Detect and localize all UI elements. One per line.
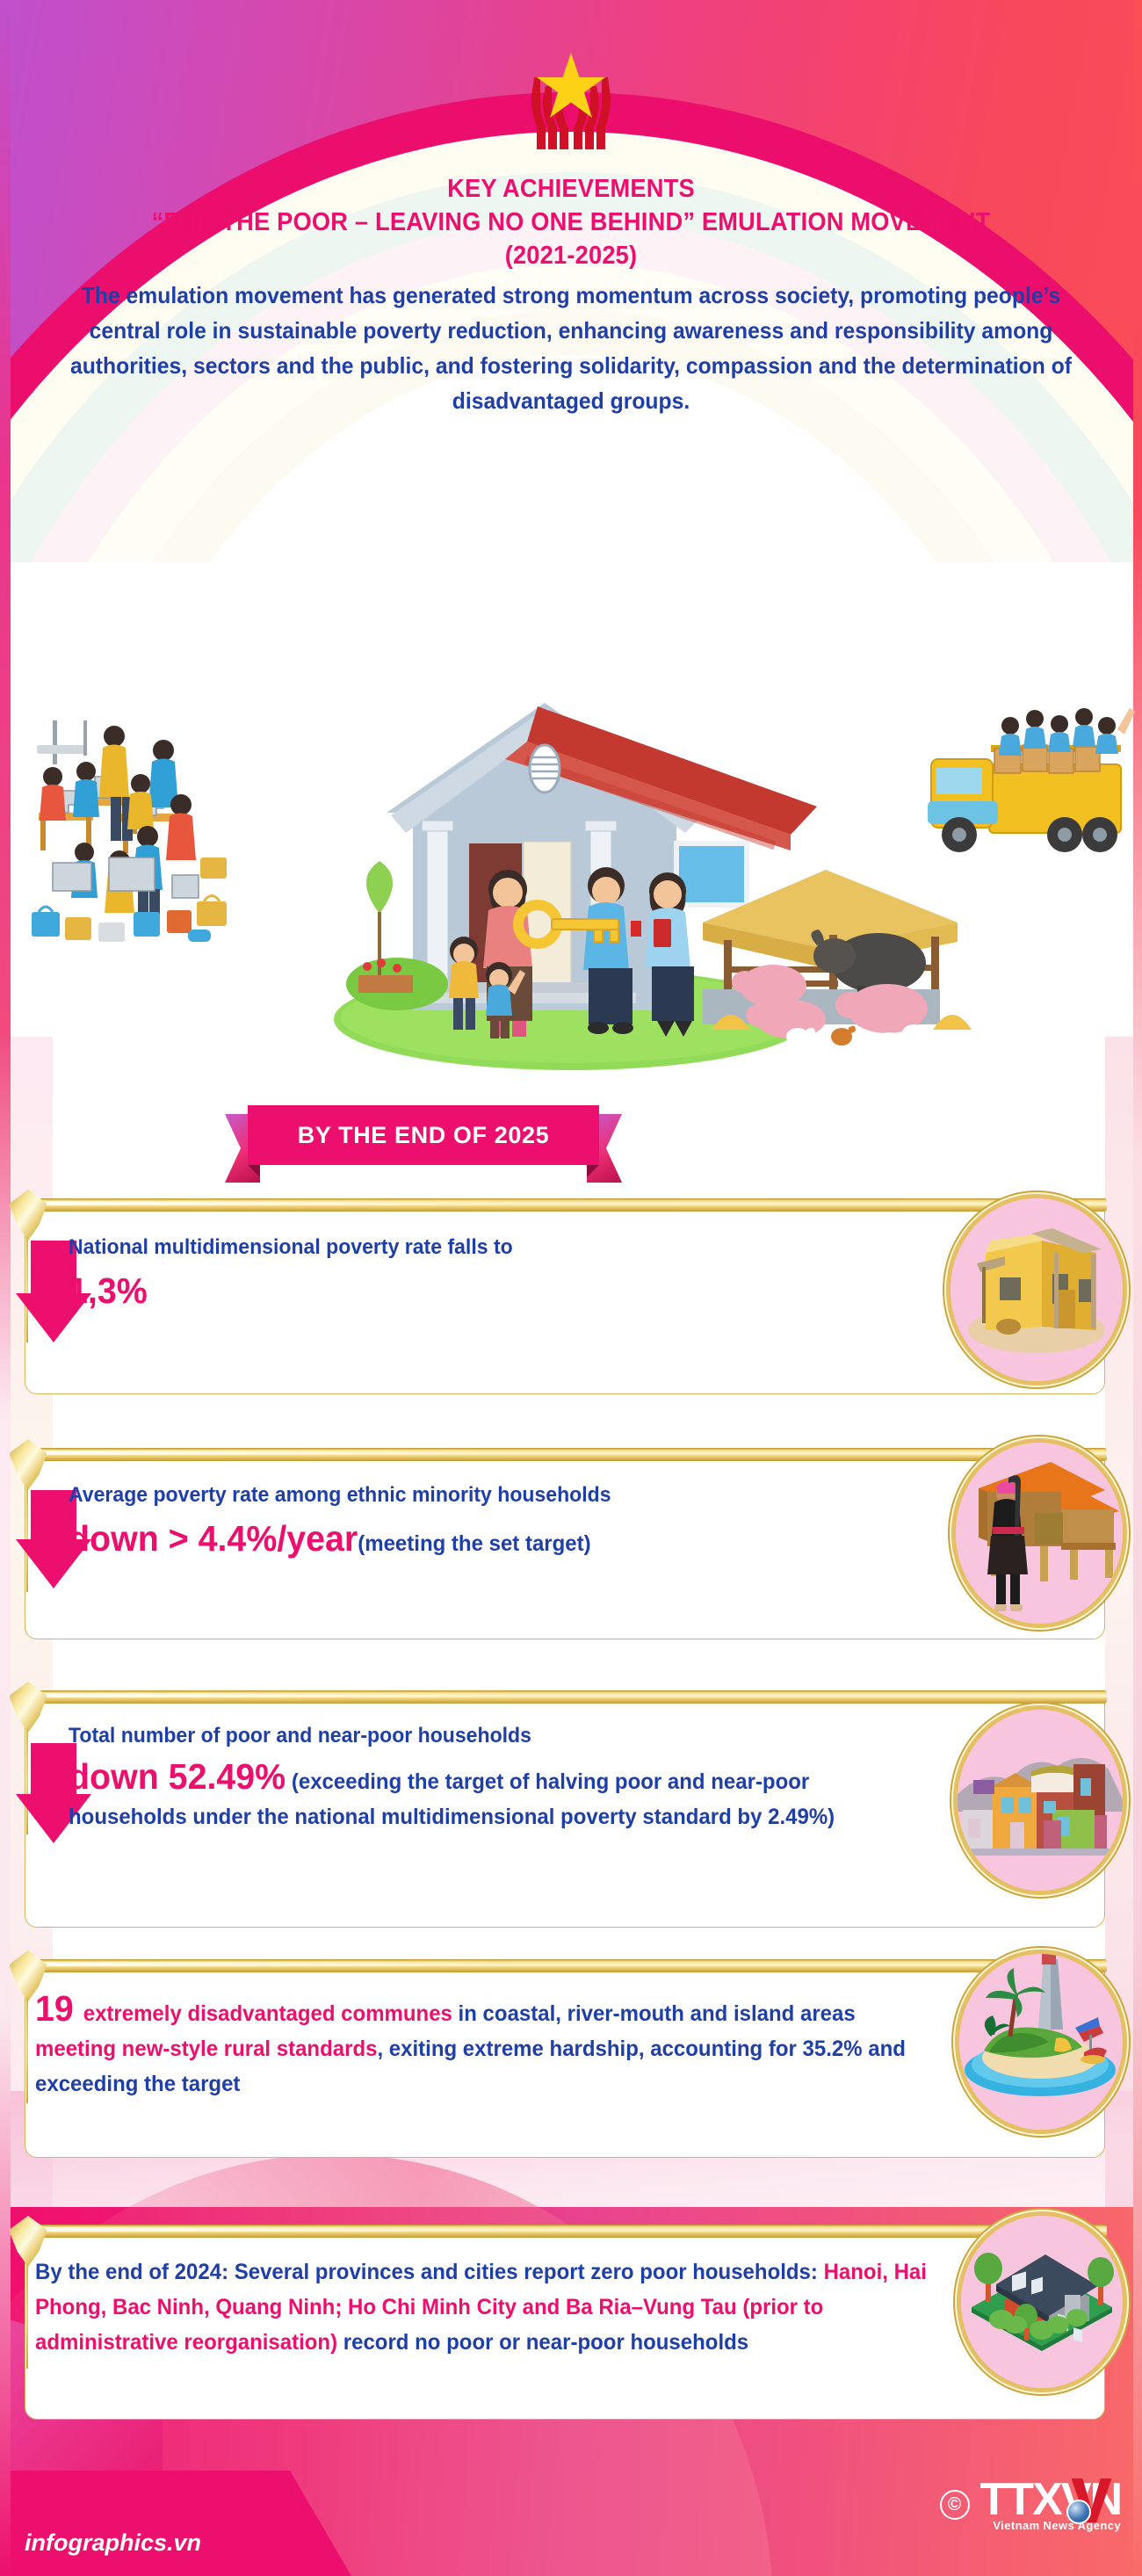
yellow-relief-truck-with-volunteers	[928, 708, 1135, 852]
stat-card-poor-and-near-poor-households[interactable]: Total number of poor and near-poor house…	[0, 1680, 1142, 1928]
card-stat-suffix: (meeting the set target)	[358, 1531, 590, 1556]
card-gold-stem	[26, 1998, 28, 2103]
vietnam-star-emulation-logo-icon	[505, 46, 637, 160]
card-top-gold-bar	[32, 1690, 1107, 1704]
agency-logo: © TTXVN Vietnam News Agency	[940, 2477, 1121, 2532]
card-paragraph: down 52.49% (exceeding the target of hal…	[69, 1759, 930, 1834]
yellow-mud-house-photo	[950, 1198, 1123, 1381]
tropical-island-beach-photo	[959, 1954, 1123, 2130]
stat-card-ethnic-minority-poverty-rate[interactable]: Average poverty rate among ethnic minori…	[0, 1437, 1142, 1639]
background-bottom-shape-1	[0, 2471, 351, 2576]
card-top-gold-bar	[32, 1198, 1107, 1212]
card-title: Total number of poor and near-poor house…	[69, 1722, 930, 1750]
new-house-key-handover-family-scene	[346, 703, 972, 1048]
ethnic-minority-woman-stilt-house-photo	[956, 1443, 1123, 1624]
card-body-1: By the end of 2024: Several provinces an…	[35, 2260, 824, 2284]
hero-illustration	[0, 703, 1142, 1072]
card-stat-value: down > 4.4%/year(meeting the set target)	[69, 1516, 922, 1566]
card-gold-stem	[26, 2263, 28, 2369]
copyright-icon: ©	[940, 2490, 970, 2520]
globe-icon	[1066, 2500, 1091, 2524]
card-body-1: in coastal, river-mouth and island areas	[459, 2001, 856, 2026]
red-house-with-garden-photo	[961, 2216, 1123, 2388]
page-title-line-1: KEY ACHIEVEMENTS	[34, 172, 1108, 206]
card-title: National multidimensional poverty rate f…	[69, 1234, 922, 1262]
card-title: Average poverty rate among ethnic minori…	[69, 1481, 922, 1509]
card-highlight-1: extremely disadvantaged communes	[83, 2001, 459, 2026]
card-top-gold-bar	[32, 1448, 1107, 1461]
card-top-gold-bar	[32, 1959, 1107, 1972]
stat-card-national-poverty-rate[interactable]: National multidimensional poverty rate f…	[0, 1188, 1142, 1394]
card-stat-value: 1,3%	[69, 1269, 922, 1313]
page-title-line-2: “FOR THE POOR – LEAVING NO ONE BEHIND” E…	[34, 206, 1108, 239]
page-lede: The emulation movement has generated str…	[66, 278, 1076, 418]
card-stat-number: down > 4.4%/year	[69, 1518, 358, 1559]
ribbon-body: BY THE END OF 2025	[248, 1105, 599, 1165]
stat-card-disadvantaged-communes[interactable]: 19 extremely disadvantaged communes in c…	[0, 1949, 1142, 2158]
card-rich-paragraph: By the end of 2024: Several provinces an…	[35, 2254, 932, 2360]
page-title-line-3: (2021-2025)	[34, 239, 1108, 272]
header-titles: KEY ACHIEVEMENTS “FOR THE POOR – LEAVING…	[0, 172, 1142, 418]
card-stat-number: down 52.49%	[69, 1756, 285, 1797]
card-stat-number: 19	[35, 1988, 83, 2029]
sewing-workshop-vocational-training-scene	[32, 720, 227, 942]
section-ribbon-banner: BY THE END OF 2025	[248, 1105, 599, 1177]
agency-name: Vietnam News Agency	[980, 2519, 1121, 2532]
card-rich-paragraph: 19 extremely disadvantaged communes in c…	[35, 1991, 936, 2102]
stat-card-zero-poor-household-provinces[interactable]: By the end of 2024: Several provinces an…	[0, 2214, 1142, 2420]
card-highlight-2: meeting new-style rural standards	[35, 2037, 377, 2061]
card-body-2: record no poor or near-poor households	[337, 2330, 748, 2355]
ribbon-label: BY THE END OF 2025	[298, 1122, 549, 1149]
colourful-town-houses-photo	[958, 1710, 1123, 1891]
card-top-gold-bar	[32, 2225, 1107, 2238]
site-url: infographics.vn	[25, 2529, 201, 2557]
